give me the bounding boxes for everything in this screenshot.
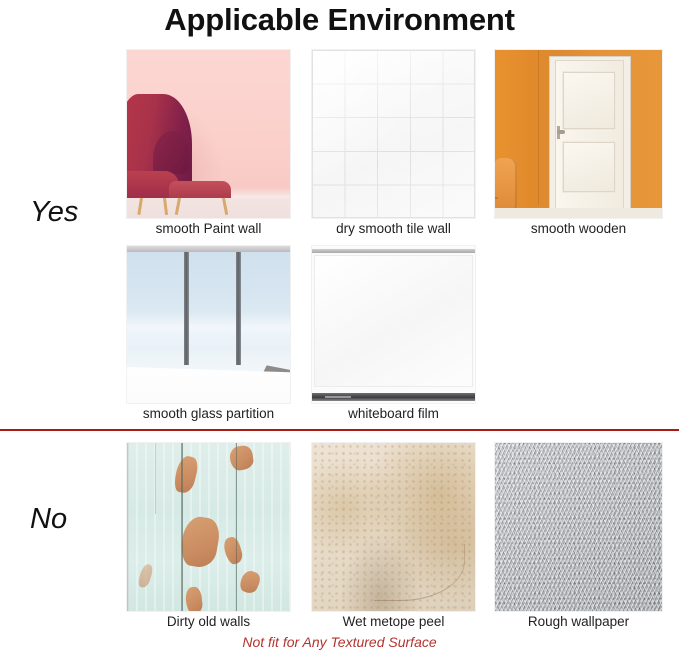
cell-smooth-wooden: smooth wooden bbox=[495, 50, 662, 236]
caption-rough-wallpaper: Rough wallpaper bbox=[495, 614, 662, 629]
image-smooth-paint-wall bbox=[127, 50, 290, 218]
cell-dry-smooth-tile-wall: dry smooth tile wall bbox=[312, 50, 475, 236]
image-wet-metope-peel bbox=[312, 443, 475, 611]
cell-wet-metope-peel: Wet metope peel bbox=[312, 443, 475, 629]
cell-smooth-glass-partition: smooth glass partition bbox=[127, 246, 290, 421]
image-rough-wallpaper bbox=[495, 443, 662, 611]
applicable-environment-infographic: Applicable Environment Yes smooth Paint … bbox=[0, 0, 679, 656]
caption-whiteboard-film: whiteboard film bbox=[312, 406, 475, 421]
image-dirty-old-walls bbox=[127, 443, 290, 611]
section-divider bbox=[0, 429, 679, 431]
caption-smooth-glass-partition: smooth glass partition bbox=[127, 406, 290, 421]
cell-dirty-old-walls: Dirty old walls bbox=[127, 443, 290, 629]
caption-smooth-paint-wall: smooth Paint wall bbox=[127, 221, 290, 236]
caption-smooth-wooden: smooth wooden bbox=[495, 221, 662, 236]
image-whiteboard-film bbox=[312, 246, 475, 403]
page-title: Applicable Environment bbox=[0, 2, 679, 38]
cell-rough-wallpaper: Rough wallpaper bbox=[495, 443, 662, 629]
cell-smooth-paint-wall: smooth Paint wall bbox=[127, 50, 290, 236]
caption-dirty-old-walls: Dirty old walls bbox=[127, 614, 290, 629]
caption-dry-smooth-tile-wall: dry smooth tile wall bbox=[312, 221, 475, 236]
image-dry-smooth-tile-wall bbox=[312, 50, 475, 218]
row-label-yes: Yes bbox=[30, 196, 78, 229]
row-label-no: No bbox=[30, 503, 67, 536]
image-smooth-wooden bbox=[495, 50, 662, 218]
caption-wet-metope-peel: Wet metope peel bbox=[312, 614, 475, 629]
cell-whiteboard-film: whiteboard film bbox=[312, 246, 475, 421]
image-smooth-glass-partition bbox=[127, 246, 290, 403]
footnote-warning: Not fit for Any Textured Surface bbox=[0, 634, 679, 650]
